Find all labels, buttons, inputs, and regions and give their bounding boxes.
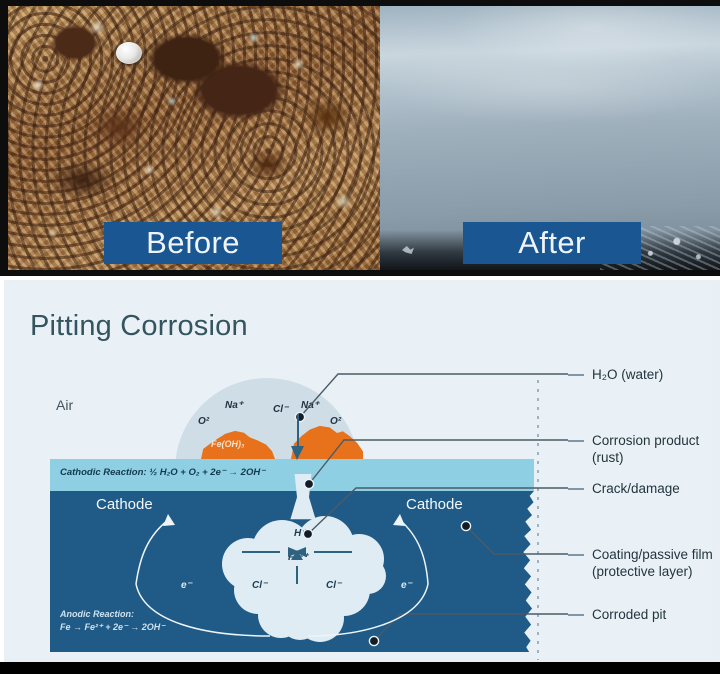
screenshot-root: Before After Pitting Corrosion Air O²Na⁺…: [0, 0, 720, 674]
legend-item-pit: Corroded pit: [592, 606, 666, 623]
pit-ion-1: Fe²⁺: [288, 552, 308, 563]
dome-ion-3: Na⁺: [301, 400, 319, 411]
cathode-label-right: Cathode: [406, 496, 463, 513]
electron-label-left: e⁻: [181, 580, 192, 592]
legend-sublabel-rust: (rust): [592, 449, 699, 466]
legend-sublabel-coating: (protective layer): [592, 563, 713, 580]
legend-label-pit: Corroded pit: [592, 606, 666, 623]
bottom-black-bar: [0, 662, 720, 674]
dome-ion-1: Na⁺: [225, 400, 243, 411]
anodic-reaction-label: Fe → Fe²⁺ + 2e⁻ → 2OH⁻: [60, 621, 165, 633]
dome-ion-2: Cl⁻: [273, 404, 288, 415]
air-label: Air: [56, 397, 73, 413]
pit-lobe-11: [280, 600, 320, 640]
diagram-canvas: Pitting Corrosion Air O²Na⁺Cl⁻Na⁺O² Fe(O…: [8, 284, 712, 658]
dome-ion-0: O²: [198, 416, 209, 427]
legend-dash-water: [568, 374, 584, 376]
legend-label-water: H₂O (water): [592, 366, 663, 383]
pit-ion-0: H⁺: [294, 528, 307, 539]
legend-dash-coating: [568, 554, 584, 556]
section-divider-dotted: [537, 380, 539, 660]
dome-ion-4: O²: [330, 416, 341, 427]
legend-item-crack: Crack/damage: [592, 480, 680, 497]
electron-label-right: e⁻: [401, 580, 412, 592]
legend-label-crack: Crack/damage: [592, 480, 680, 497]
after-caption: After: [463, 222, 641, 264]
legend-dash-rust: [568, 440, 584, 442]
before-caption: Before: [104, 222, 282, 264]
page-title: Pitting Corrosion: [30, 310, 248, 343]
pit-ion-3: Cl⁻: [326, 580, 341, 591]
after-photo: After: [380, 6, 720, 270]
before-photo: Before: [8, 6, 380, 270]
legend-label-rust: Corrosion product: [592, 432, 699, 449]
legend-item-coating: Coating/passive film(protective layer): [592, 546, 713, 580]
legend-dash-crack: [568, 488, 584, 490]
pit-ion-2: Cl⁻: [252, 580, 267, 591]
scale-coin: [116, 42, 142, 64]
pitting-corrosion-diagram: Pitting Corrosion Air O²Na⁺Cl⁻Na⁺O² Fe(O…: [0, 280, 720, 662]
legend-dash-pit: [568, 614, 584, 616]
rust-formula-label: Fe(OH)₃: [211, 439, 245, 449]
pit-lobe-10: [350, 558, 386, 594]
corroded-pit: H⁺Fe²⁺Cl⁻Cl⁻: [222, 474, 388, 619]
anodic-reaction-title: Anodic Reaction:: [60, 608, 134, 620]
before-after-photo-strip: Before After: [0, 0, 720, 276]
left-white-margin: [0, 276, 4, 662]
cathode-label-left: Cathode: [96, 496, 153, 513]
legend: H₂O (water)Corrosion product(rust)Crack/…: [568, 284, 720, 658]
legend-item-water: H₂O (water): [592, 366, 663, 383]
legend-label-coating: Coating/passive film: [592, 546, 713, 563]
legend-item-rust: Corrosion product(rust): [592, 432, 699, 466]
